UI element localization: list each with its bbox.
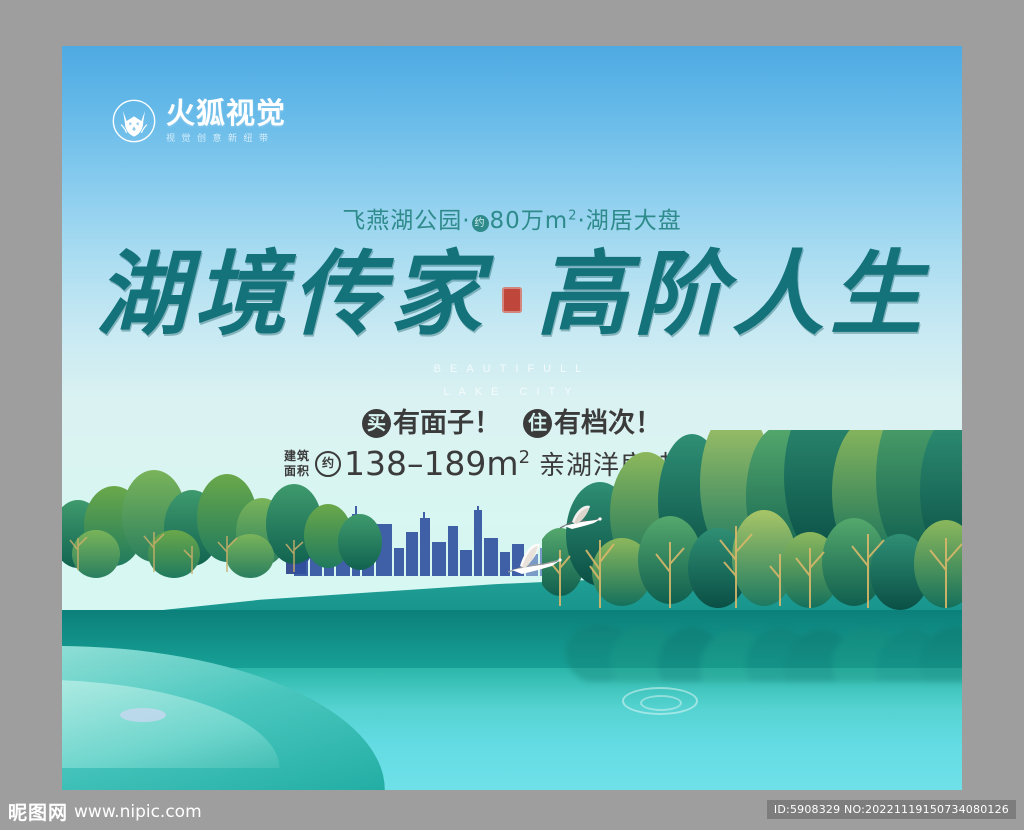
site-name-cn: 昵图网: [8, 798, 68, 825]
english-line-1: BEAUTIFULL: [62, 358, 962, 381]
water-ripple: [622, 687, 698, 715]
page-title: 湖境传家 高阶人生: [62, 246, 962, 343]
slogan-text-1: 有面子！: [393, 408, 501, 439]
tree-reflection: [542, 602, 962, 682]
subtitle-post: ·湖居大盘: [577, 208, 681, 234]
headline-right: 高阶人生: [536, 246, 928, 343]
asset-id-badge: ID:5908329 NO:20221119150734080126: [767, 800, 1016, 819]
spec-area-superscript: 2: [519, 447, 530, 468]
subtitle-pre: 飞燕湖公园·: [342, 208, 470, 234]
shore-puddle: [120, 708, 166, 722]
subtitle-area: 80万m: [490, 208, 569, 234]
approx-badge-icon: 约: [472, 215, 489, 232]
english-subtitle: BEAUTIFULL LAKE CITY: [62, 358, 962, 404]
poster-subtitle: 飞燕湖公园·约80万m2·湖居大盘: [62, 201, 962, 235]
flying-crane-icon: [502, 538, 568, 582]
logo-tagline: 视觉创意新纽带: [166, 135, 286, 144]
fox-head-icon: [111, 98, 157, 144]
poster-canvas: 火狐视觉 视觉创意新纽带 飞燕湖公园·约80万m2·湖居大盘 湖境传家 高阶人生…: [62, 46, 962, 790]
watermark-logo: 火狐视觉 视觉创意新纽带: [111, 98, 286, 144]
site-watermark: 昵图网 www.nipic.com: [8, 798, 202, 825]
logo-wordmark: 火狐视觉: [166, 99, 286, 128]
slogan-badge-buy: 买: [362, 409, 391, 438]
flying-crane-icon: [550, 502, 608, 540]
tree-cluster-left: [62, 458, 392, 578]
scenery-illustration: [62, 490, 962, 790]
headline-left: 湖境传家: [96, 246, 488, 343]
screenshot-stage: 火狐视觉 视觉创意新纽带 飞燕湖公园·约80万m2·湖居大盘 湖境传家 高阶人生…: [0, 0, 1024, 830]
site-url: www.nipic.com: [74, 802, 202, 822]
seal-stamp-icon: [502, 287, 522, 313]
footer-bar: 昵图网 www.nipic.com ID:5908329 NO:20221119…: [0, 790, 1024, 830]
